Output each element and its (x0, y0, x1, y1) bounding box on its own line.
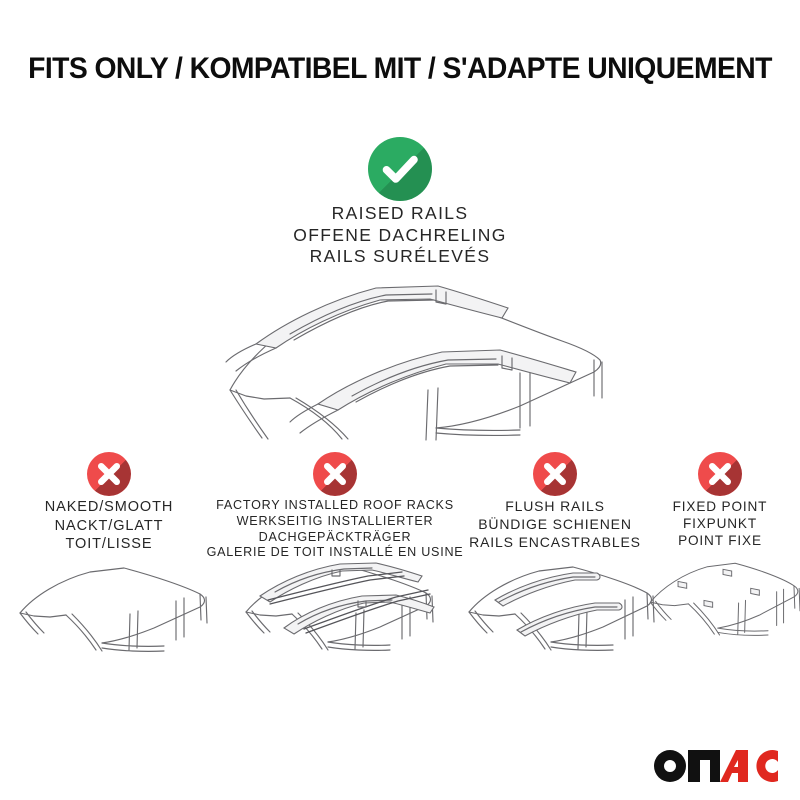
item-label: FIXED POINT FIXPUNKT POINT FIXE (640, 498, 800, 550)
approved-label-en: RAISED RAILS (0, 203, 800, 225)
item-label-line: TOIT/LISSE (4, 535, 214, 554)
fitment-info-graphic: FITS ONLY / KOMPATIBEL MIT / S'ADAPTE UN… (0, 0, 800, 800)
item-label-line: POINT FIXE (640, 532, 800, 549)
approved-labels: RAISED RAILS OFFENE DACHRELING RAILS SUR… (0, 203, 800, 268)
item-label-line: FACTORY INSTALLED ROOF RACKS (205, 498, 465, 514)
item-label-line: FLUSH RAILS (455, 498, 655, 516)
omac-logo-letter-o (654, 750, 686, 782)
approved-label-de: OFFENE DACHRELING (0, 225, 800, 247)
page-title: FITS ONLY / KOMPATIBEL MIT / S'ADAPTE UN… (16, 52, 784, 86)
item-label-line: RAILS ENCASTRABLES (455, 534, 655, 552)
item-label: FLUSH RAILS BÜNDIGE SCHIENEN RAILS ENCAS… (455, 498, 655, 551)
item-label-line: FIXED POINT (640, 498, 800, 515)
item-label-line: FIXPUNKT (640, 515, 800, 532)
car-roof-with-fixed-points-illustration (640, 552, 800, 688)
omac-logo: OM AC (652, 748, 780, 784)
omac-logo-letter-c (756, 750, 778, 782)
item-label-line: NAKED/SMOOTH (4, 498, 214, 517)
x-circle-icon (533, 452, 577, 496)
item-label-line: DACHGEPÄCKTRÄGER (205, 530, 465, 546)
x-circle-icon (313, 452, 357, 496)
item-label-line: NACKT/GLATT (4, 517, 214, 536)
omac-logo-letter-m (688, 750, 720, 782)
x-circle-icon (698, 452, 742, 496)
item-label: NAKED/SMOOTH NACKT/GLATT TOIT/LISSE (4, 498, 214, 554)
omac-logo-letter-a (720, 750, 748, 782)
item-label-line: WERKSEITIG INSTALLIERTER (205, 514, 465, 530)
x-circle-icon (87, 452, 131, 496)
item-label-line: BÜNDIGE SCHIENEN (455, 516, 655, 534)
not-compatible-section: NAKED/SMOOTH NACKT/GLATT TOIT/LISSE (0, 452, 800, 702)
car-roof-with-factory-crossbars-illustration (205, 552, 465, 688)
approved-label-fr: RAILS SURÉLEVÉS (0, 246, 800, 268)
car-roof-with-raised-rails-illustration (190, 278, 630, 443)
check-circle-icon (368, 137, 432, 201)
car-roof-naked-smooth-illustration (4, 558, 214, 688)
car-roof-with-flush-rails-illustration (455, 554, 655, 688)
